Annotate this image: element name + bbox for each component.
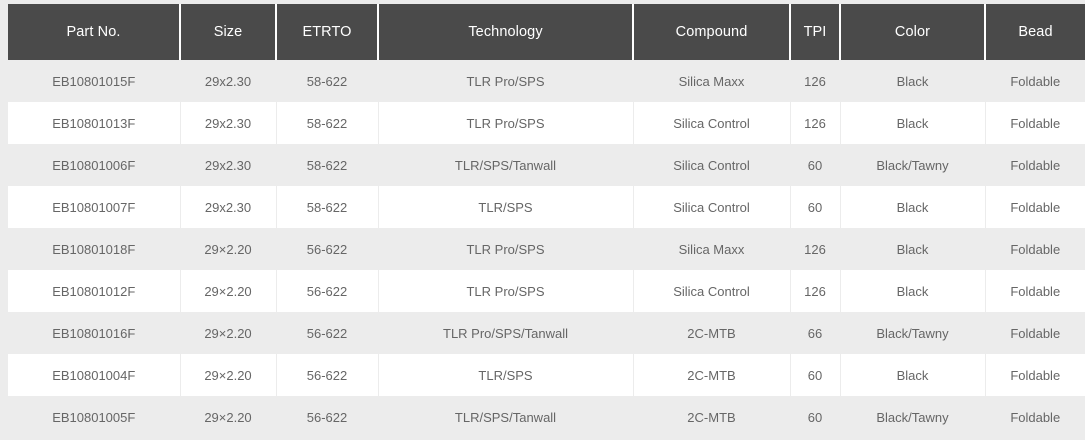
cell-technology: TLR/SPS	[378, 354, 633, 396]
cell-compound: 2C-MTB	[633, 354, 790, 396]
cell-color: Black	[840, 228, 985, 270]
cell-bead: Foldable	[985, 396, 1085, 438]
cell-etrto: 58-622	[276, 60, 378, 102]
cell-part-no: EB10801016F	[8, 312, 180, 354]
cell-size: 29×2.20	[180, 354, 276, 396]
cell-size: 29×2.20	[180, 270, 276, 312]
cell-etrto: 56-622	[276, 312, 378, 354]
cell-tpi: 60	[790, 186, 840, 228]
cell-size: 29×2.20	[180, 312, 276, 354]
cell-color: Black/Tawny	[840, 396, 985, 438]
cell-color: Black	[840, 60, 985, 102]
cell-size: 29x2.30	[180, 144, 276, 186]
cell-bead: Foldable	[985, 60, 1085, 102]
column-header-technology[interactable]: Technology	[378, 2, 633, 60]
table-row: EB10801018F29×2.2056-622TLR Pro/SPSSilic…	[8, 228, 1085, 270]
cell-size: 29x2.30	[180, 186, 276, 228]
column-header-color[interactable]: Color	[840, 2, 985, 60]
cell-color: Black	[840, 102, 985, 144]
cell-color: Black/Tawny	[840, 312, 985, 354]
cell-part-no: EB10801015F	[8, 60, 180, 102]
cell-technology: TLR Pro/SPS	[378, 270, 633, 312]
cell-technology: TLR Pro/SPS/Tanwall	[378, 312, 633, 354]
cell-size: 29×2.20	[180, 396, 276, 438]
cell-size: 29×2.20	[180, 228, 276, 270]
cell-compound: Silica Control	[633, 186, 790, 228]
cell-bead: Foldable	[985, 354, 1085, 396]
cell-tpi: 60	[790, 354, 840, 396]
cell-bead: Foldable	[985, 312, 1085, 354]
cell-color: Black/Tawny	[840, 144, 985, 186]
table-row: EB10801006F29x2.3058-622TLR/SPS/TanwallS…	[8, 144, 1085, 186]
cell-tpi: 126	[790, 102, 840, 144]
cell-compound: Silica Control	[633, 270, 790, 312]
cell-tpi: 126	[790, 228, 840, 270]
cell-color: Black	[840, 354, 985, 396]
table-row: EB10801005F29×2.2056-622TLR/SPS/Tanwall2…	[8, 396, 1085, 438]
cell-color: Black	[840, 270, 985, 312]
cell-tpi: 126	[790, 270, 840, 312]
cell-etrto: 56-622	[276, 228, 378, 270]
column-header-part-no[interactable]: Part No.	[8, 2, 180, 60]
cell-technology: TLR Pro/SPS	[378, 60, 633, 102]
cell-part-no: EB10801006F	[8, 144, 180, 186]
cell-compound: Silica Control	[633, 102, 790, 144]
cell-part-no: EB10801013F	[8, 102, 180, 144]
cell-size: 29x2.30	[180, 102, 276, 144]
cell-bead: Foldable	[985, 144, 1085, 186]
cell-etrto: 58-622	[276, 186, 378, 228]
column-header-etrto[interactable]: ETRTO	[276, 2, 378, 60]
cell-compound: 2C-MTB	[633, 312, 790, 354]
cell-part-no: EB10801018F	[8, 228, 180, 270]
table-body: EB10801015F29x2.3058-622TLR Pro/SPSSilic…	[8, 60, 1085, 438]
cell-part-no: EB10801004F	[8, 354, 180, 396]
cell-etrto: 56-622	[276, 354, 378, 396]
cell-technology: TLR/SPS/Tanwall	[378, 396, 633, 438]
cell-part-no: EB10801012F	[8, 270, 180, 312]
cell-technology: TLR/SPS	[378, 186, 633, 228]
cell-etrto: 56-622	[276, 270, 378, 312]
table-header-row: Part No.SizeETRTOTechnologyCompoundTPICo…	[8, 2, 1085, 60]
cell-tpi: 66	[790, 312, 840, 354]
column-header-tpi[interactable]: TPI	[790, 2, 840, 60]
cell-part-no: EB10801005F	[8, 396, 180, 438]
table-row: EB10801015F29x2.3058-622TLR Pro/SPSSilic…	[8, 60, 1085, 102]
cell-bead: Foldable	[985, 186, 1085, 228]
table-header: Part No.SizeETRTOTechnologyCompoundTPICo…	[8, 2, 1085, 60]
column-header-bead[interactable]: Bead	[985, 2, 1085, 60]
cell-technology: TLR Pro/SPS	[378, 102, 633, 144]
cell-etrto: 58-622	[276, 144, 378, 186]
cell-compound: 2C-MTB	[633, 396, 790, 438]
cell-bead: Foldable	[985, 270, 1085, 312]
cell-etrto: 58-622	[276, 102, 378, 144]
cell-technology: TLR Pro/SPS	[378, 228, 633, 270]
table-row: EB10801007F29x2.3058-622TLR/SPSSilica Co…	[8, 186, 1085, 228]
cell-part-no: EB10801007F	[8, 186, 180, 228]
cell-etrto: 56-622	[276, 396, 378, 438]
column-header-compound[interactable]: Compound	[633, 2, 790, 60]
table-row: EB10801012F29×2.2056-622TLR Pro/SPSSilic…	[8, 270, 1085, 312]
cell-compound: Silica Maxx	[633, 60, 790, 102]
cell-tpi: 60	[790, 396, 840, 438]
cell-tpi: 126	[790, 60, 840, 102]
column-header-size[interactable]: Size	[180, 2, 276, 60]
cell-compound: Silica Maxx	[633, 228, 790, 270]
table-row: EB10801004F29×2.2056-622TLR/SPS2C-MTB60B…	[8, 354, 1085, 396]
product-spec-table: Part No.SizeETRTOTechnologyCompoundTPICo…	[8, 0, 1085, 438]
cell-technology: TLR/SPS/Tanwall	[378, 144, 633, 186]
cell-bead: Foldable	[985, 102, 1085, 144]
cell-size: 29x2.30	[180, 60, 276, 102]
cell-bead: Foldable	[985, 228, 1085, 270]
table-row: EB10801013F29x2.3058-622TLR Pro/SPSSilic…	[8, 102, 1085, 144]
cell-color: Black	[840, 186, 985, 228]
cell-compound: Silica Control	[633, 144, 790, 186]
cell-tpi: 60	[790, 144, 840, 186]
table-row: EB10801016F29×2.2056-622TLR Pro/SPS/Tanw…	[8, 312, 1085, 354]
